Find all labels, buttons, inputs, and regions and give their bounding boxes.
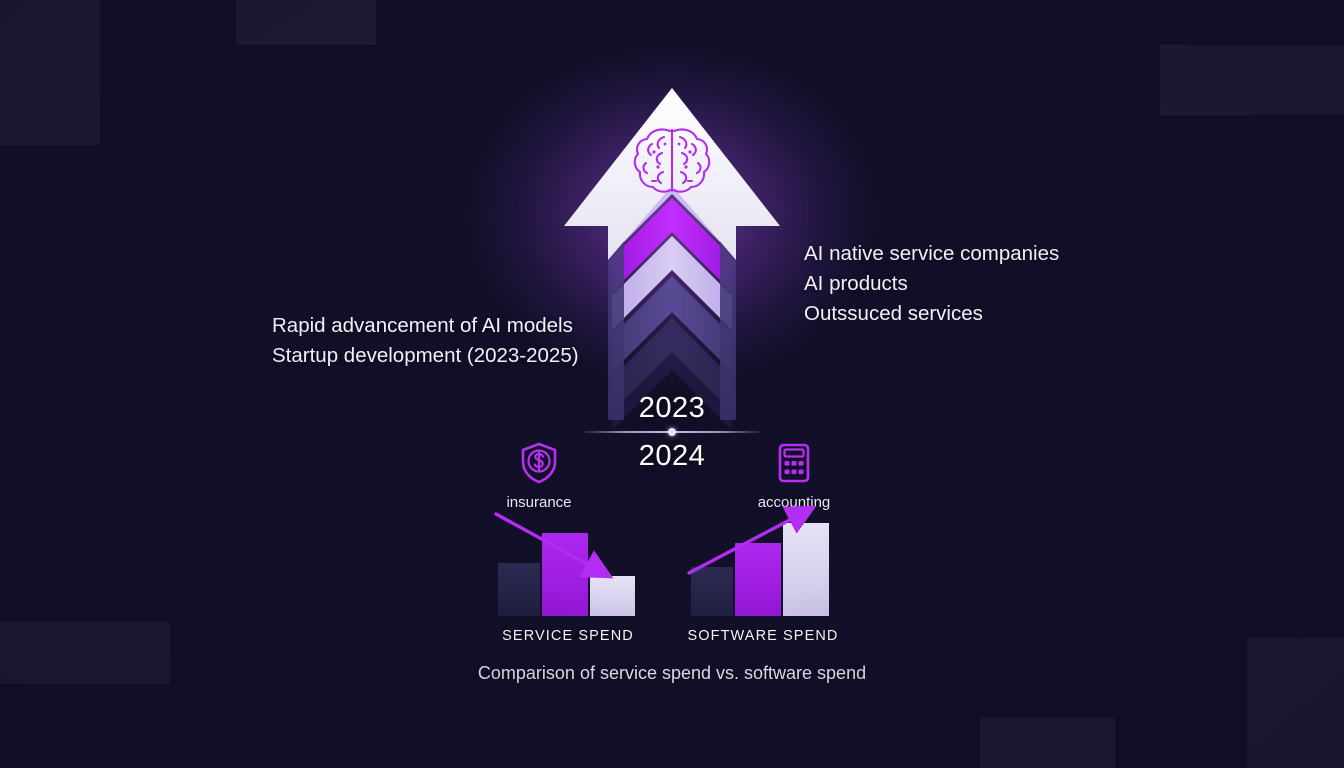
right-text-line-1: AI native service companies <box>804 239 1059 269</box>
timeline-divider-dot-icon <box>668 428 676 436</box>
left-text-block: Rapid advancement of AI models Startup d… <box>272 311 562 371</box>
service-spend-chart <box>490 508 660 623</box>
right-text-line-3: Outssuced services <box>804 299 1059 329</box>
infographic-canvas: AI native service companies AI products … <box>0 0 1344 768</box>
software-spend-label: SOFTWARE SPEND <box>633 628 893 644</box>
software-spend-chart <box>685 505 855 623</box>
bar-service-future <box>590 576 635 616</box>
deco-rect-bottom-left <box>0 622 170 684</box>
year-label-top: 2023 <box>592 392 752 425</box>
right-text-block: AI native service companies AI products … <box>804 239 1059 329</box>
deco-rect-top-mid <box>236 0 376 45</box>
deco-rect-top-right <box>1160 45 1344 115</box>
deco-rect-bottom-mid <box>980 718 1115 768</box>
chart-caption: Comparison of service spend vs. software… <box>372 663 972 684</box>
bar-service-present <box>542 533 588 616</box>
deco-rect-bottom-right <box>1247 638 1344 768</box>
left-text-line-1: Rapid advancement of AI models <box>272 311 562 341</box>
bar-service-past <box>498 563 540 616</box>
bar-software-past <box>691 567 733 616</box>
sector-accounting: accounting <box>719 440 869 511</box>
bar-software-future <box>783 523 829 616</box>
shield-dollar-icon <box>516 440 562 486</box>
left-text-line-2: Startup development (2023-2025) <box>272 341 562 371</box>
calculator-icon <box>771 440 817 486</box>
right-text-line-2: AI products <box>804 269 1059 299</box>
deco-rect-top-left <box>0 0 100 145</box>
bar-software-present <box>735 543 781 616</box>
sector-insurance: insurance <box>464 440 614 511</box>
